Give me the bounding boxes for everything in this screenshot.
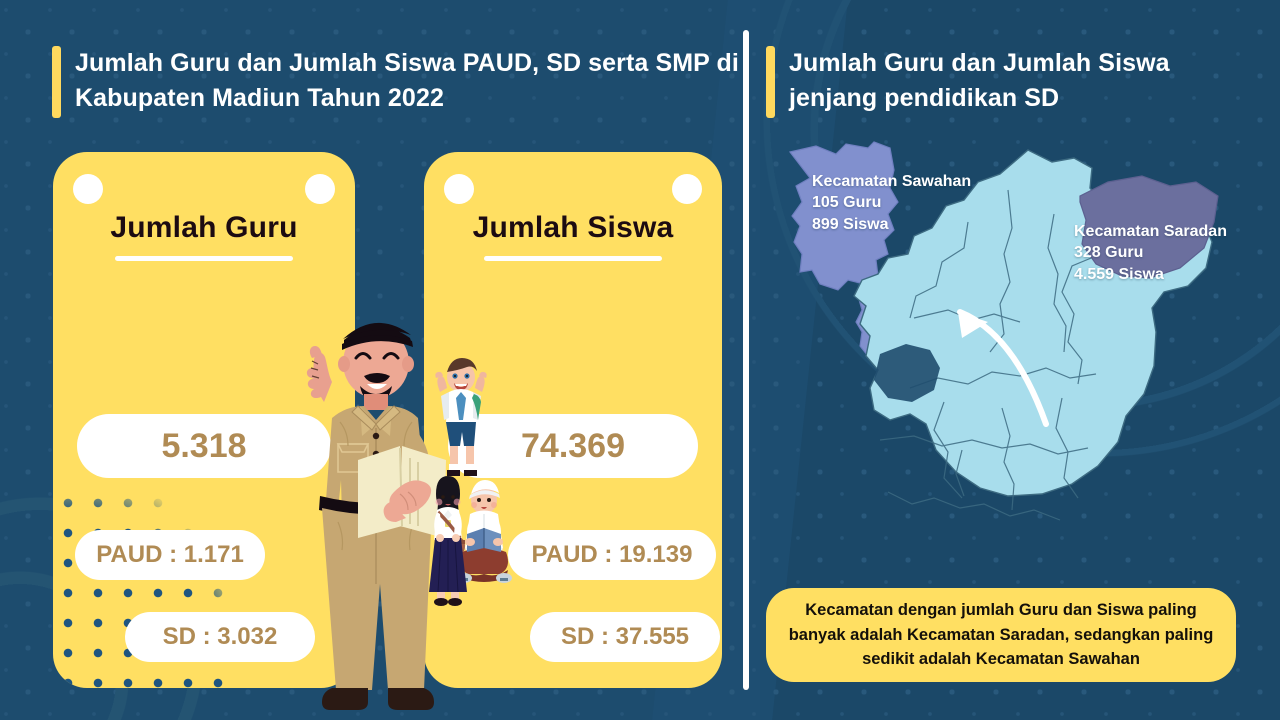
card-row-sd: SD : 3.032 bbox=[125, 612, 315, 662]
callout-sawahan-name: Kecamatan Sawahan bbox=[812, 171, 971, 192]
card-title: Jumlah Guru bbox=[53, 211, 355, 245]
title-accent-bar bbox=[766, 46, 775, 118]
summary-note-box: Kecamatan dengan jumlah Guru dan Siswa p… bbox=[766, 588, 1236, 682]
card-row-sd: SD : 37.555 bbox=[530, 612, 720, 662]
card-title-underline bbox=[115, 256, 293, 261]
infographic-canvas: Jumlah Guru dan Jumlah Siswa PAUD, SD se… bbox=[0, 0, 1280, 720]
card-total-value: 74.369 bbox=[448, 414, 698, 478]
card-title-underline bbox=[484, 256, 662, 261]
panel-divider bbox=[743, 30, 749, 690]
card-punch-hole-right bbox=[305, 174, 335, 204]
stat-card-jumlah-guru: Jumlah Guru 5.318 PAUD : 1.171 SD : 3.03… bbox=[53, 152, 355, 688]
right-panel-title-text: Jumlah Guru dan Jumlah Siswa jenjang pen… bbox=[789, 46, 1236, 115]
card-row-paud: PAUD : 19.139 bbox=[508, 530, 716, 580]
right-panel-title: Jumlah Guru dan Jumlah Siswa jenjang pen… bbox=[766, 46, 1236, 118]
map-callout-saradan: Kecamatan Saradan 328 Guru 4.559 Siswa bbox=[1074, 221, 1227, 285]
card-punch-hole-right bbox=[672, 174, 702, 204]
left-panel-title: Jumlah Guru dan Jumlah Siswa PAUD, SD se… bbox=[52, 46, 752, 118]
summary-note-text: Kecamatan dengan jumlah Guru dan Siswa p… bbox=[766, 598, 1236, 672]
map-callout-sawahan: Kecamatan Sawahan 105 Guru 899 Siswa bbox=[812, 171, 971, 235]
callout-sawahan-siswa: 899 Siswa bbox=[812, 214, 971, 235]
card-title: Jumlah Siswa bbox=[424, 211, 722, 245]
callout-sawahan-guru: 105 Guru bbox=[812, 192, 971, 213]
callout-saradan-guru: 328 Guru bbox=[1074, 242, 1227, 263]
card-punch-hole-left bbox=[73, 174, 103, 204]
card-total-value: 5.318 bbox=[77, 414, 331, 478]
callout-saradan-siswa: 4.559 Siswa bbox=[1074, 264, 1227, 285]
callout-saradan-name: Kecamatan Saradan bbox=[1074, 221, 1227, 242]
card-row-paud: PAUD : 1.171 bbox=[75, 530, 265, 580]
stat-card-jumlah-siswa: Jumlah Siswa 74.369 PAUD : 19.139 SD : 3… bbox=[424, 152, 722, 688]
card-punch-hole-left bbox=[444, 174, 474, 204]
title-accent-bar bbox=[52, 46, 61, 118]
left-panel-title-text: Jumlah Guru dan Jumlah Siswa PAUD, SD se… bbox=[75, 46, 752, 115]
